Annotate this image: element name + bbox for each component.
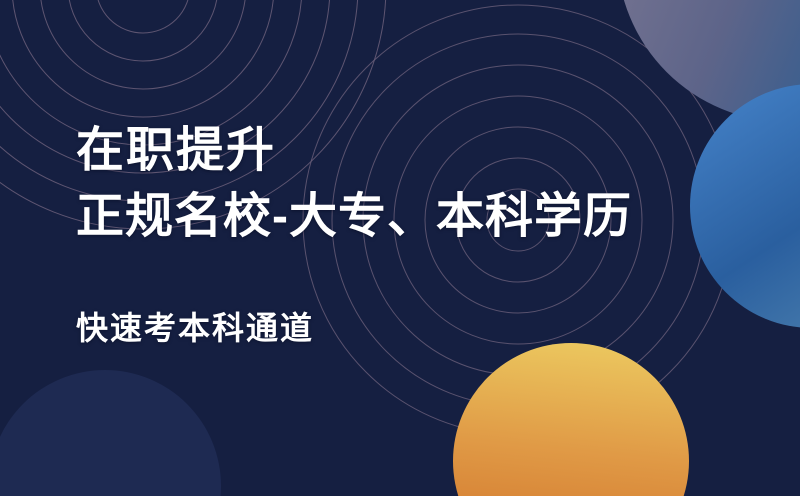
headline-line-1: 在职提升	[76, 118, 736, 184]
subheadline: 快速考本科通道	[76, 306, 736, 350]
headline-line-2: 正规名校-大专、本科学历	[76, 184, 736, 250]
navy-accent-circle	[0, 370, 221, 496]
gray-blue-circle	[617, 0, 800, 122]
promo-banner: 在职提升 正规名校-大专、本科学历 快速考本科通道	[0, 0, 800, 496]
orange-circle	[453, 343, 689, 496]
banner-text-block: 在职提升 正规名校-大专、本科学历 快速考本科通道	[76, 118, 736, 350]
